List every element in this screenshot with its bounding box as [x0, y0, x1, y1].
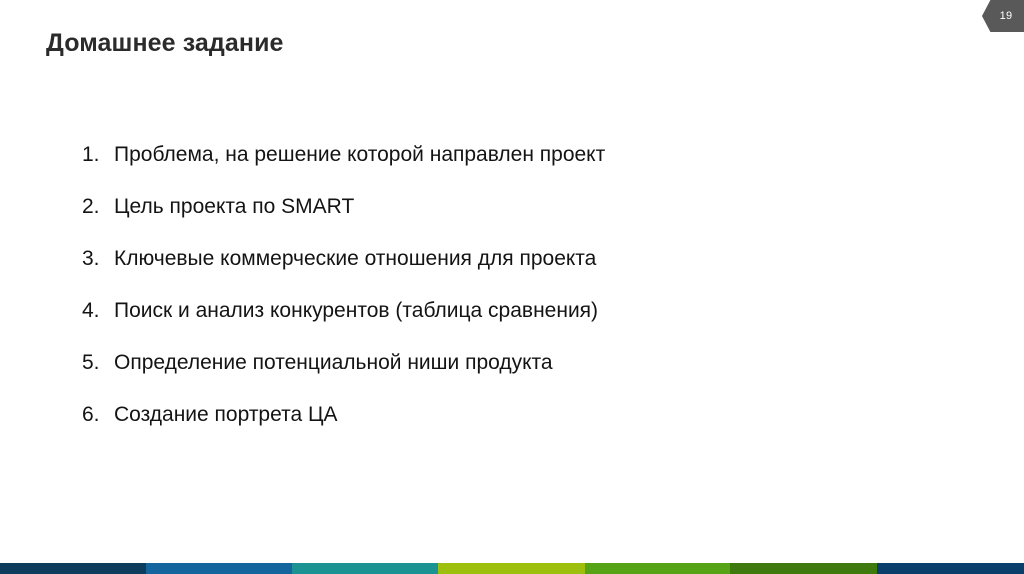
slide-canvas: 19 Домашнее задание 1. Проблема, на реше… — [0, 0, 1024, 574]
bottom-bar-segment-3 — [292, 563, 438, 574]
list-item-number: 4. — [74, 299, 114, 323]
bottom-color-bar — [0, 563, 1024, 574]
list-item-label: Создание портрета ЦА — [114, 403, 338, 427]
list-item: 4. Поиск и анализ конкурентов (таблица с… — [74, 299, 934, 351]
page-number-badge: 19 — [982, 0, 1024, 32]
list-item-number: 6. — [74, 403, 114, 427]
list-item: 1. Проблема, на решение которой направле… — [74, 143, 934, 195]
list-item-label: Определение потенциальной ниши продукта — [114, 351, 553, 375]
bottom-bar-segment-2 — [146, 563, 292, 574]
list-item-label: Ключевые коммерческие отношения для прое… — [114, 247, 596, 271]
list-item-label: Проблема, на решение которой направлен п… — [114, 143, 605, 167]
list-item: 5. Определение потенциальной ниши продук… — [74, 351, 934, 403]
bottom-bar-segment-4 — [438, 563, 585, 574]
homework-task-list: 1. Проблема, на решение которой направле… — [74, 143, 934, 455]
bottom-bar-segment-7 — [877, 563, 1024, 574]
list-item-number: 1. — [74, 143, 114, 167]
page-number-label: 19 — [994, 11, 1013, 22]
list-item-label: Поиск и анализ конкурентов (таблица срав… — [114, 299, 598, 323]
list-item: 3. Ключевые коммерческие отношения для п… — [74, 247, 934, 299]
list-item-label: Цель проекта по SMART — [114, 195, 354, 219]
list-item: 6. Создание портрета ЦА — [74, 403, 934, 455]
bottom-bar-segment-5 — [585, 563, 730, 574]
list-item-number: 2. — [74, 195, 114, 219]
bottom-bar-segment-1 — [0, 563, 146, 574]
page-title: Домашнее задание — [46, 29, 284, 58]
list-item: 2. Цель проекта по SMART — [74, 195, 934, 247]
list-item-number: 5. — [74, 351, 114, 375]
list-item-number: 3. — [74, 247, 114, 271]
bottom-bar-segment-6 — [730, 563, 877, 574]
